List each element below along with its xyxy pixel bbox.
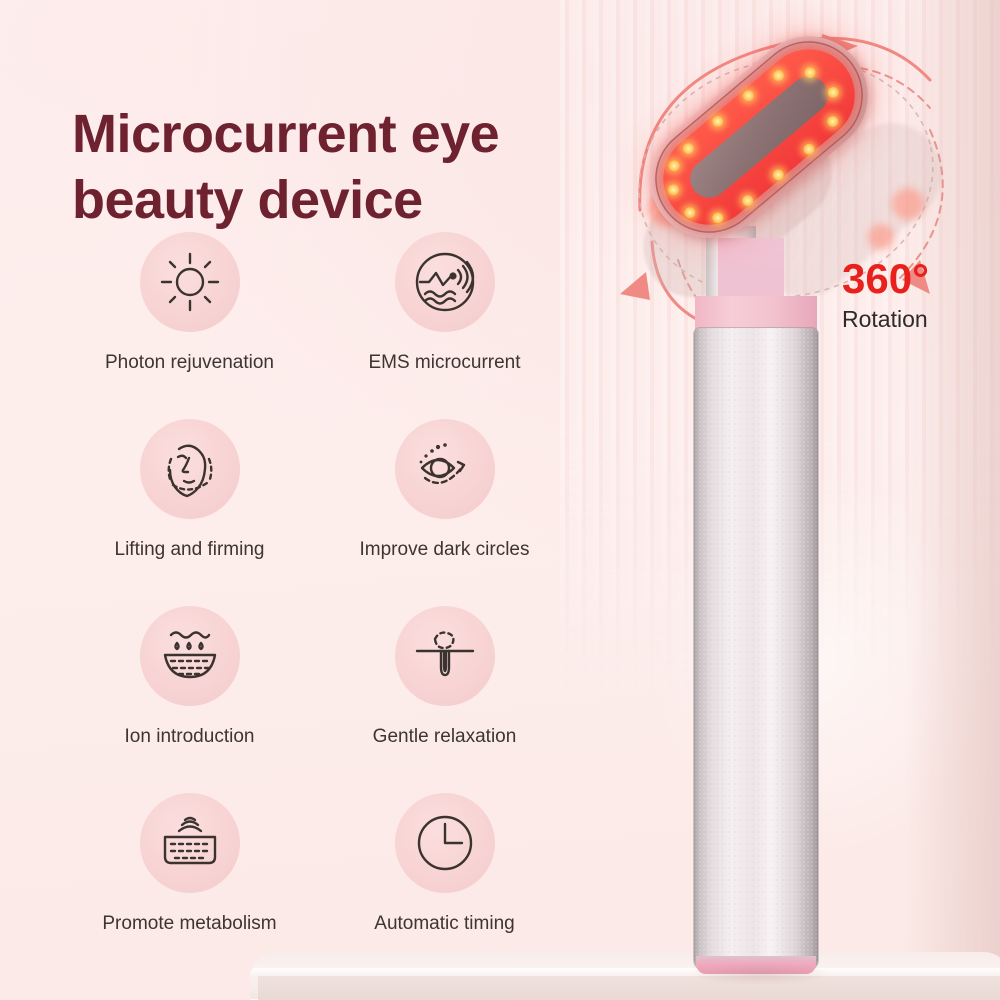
- ghost-led-glow: [892, 188, 924, 220]
- led-dot: [681, 141, 696, 156]
- feature-label: Lifting and firming: [115, 539, 265, 561]
- feature-row-2: Lifting and firming: [62, 419, 572, 606]
- feature-label: Promote metabolism: [102, 913, 276, 935]
- led-dot: [710, 114, 725, 129]
- feature-item-ems-microcurrent: EMS microcurrent: [317, 232, 572, 419]
- feature-label: Photon rejuvenation: [105, 352, 274, 374]
- led-dot: [666, 182, 681, 197]
- feature-item-photon-rejuvenation: Photon rejuvenation: [62, 232, 317, 419]
- rotation-caption: Rotation: [842, 306, 992, 333]
- led-dot: [771, 68, 786, 83]
- ems-wave-icon: [412, 249, 478, 315]
- water-droplets-icon: [157, 627, 223, 685]
- rotation-badge: 360° Rotation: [842, 258, 992, 333]
- feature-icon-disc: [395, 793, 495, 893]
- feature-row-4: Promote metabolism Automatic timing: [62, 793, 572, 980]
- feature-label: Ion introduction: [125, 726, 255, 748]
- feature-list: Photon rejuvenation EMS microcurr: [62, 232, 572, 980]
- led-dot: [666, 158, 681, 173]
- feature-item-lifting-and-firming: Lifting and firming: [62, 419, 317, 606]
- feature-item-gentle-relaxation: Gentle relaxation: [317, 606, 572, 793]
- sun-icon: [159, 251, 221, 313]
- page-title-line-2: beauty device: [72, 168, 632, 234]
- feature-item-automatic-timing: Automatic timing: [317, 793, 572, 980]
- feature-row-3: Ion introduction Gentle relaxation: [62, 606, 572, 793]
- clock-icon: [414, 812, 476, 874]
- feature-label: Automatic timing: [374, 913, 514, 935]
- feature-label: Improve dark circles: [360, 539, 530, 561]
- feature-label: Gentle relaxation: [373, 726, 517, 748]
- ghost-led-glow: [868, 224, 894, 250]
- face-profile-icon: [159, 437, 221, 501]
- led-dot: [682, 205, 697, 220]
- feature-icon-disc: [395, 232, 495, 332]
- feature-icon-disc: [395, 606, 495, 706]
- led-dot: [741, 88, 756, 103]
- device-handle: [694, 328, 818, 970]
- page-title-line-1: Microcurrent eye: [72, 104, 499, 164]
- feature-item-ion-introduction: Ion introduction: [62, 606, 317, 793]
- feature-icon-disc: [140, 419, 240, 519]
- page-title: Microcurrent eye beauty device: [72, 102, 632, 234]
- feature-item-promote-metabolism: Promote metabolism: [62, 793, 317, 980]
- product-device: 360° Rotation: [600, 10, 1000, 990]
- feature-icon-disc: [140, 232, 240, 332]
- feature-label: EMS microcurrent: [368, 352, 520, 374]
- rotation-value: 360°: [842, 258, 992, 300]
- led-dot: [825, 114, 840, 129]
- feature-item-improve-dark-circles: Improve dark circles: [317, 419, 572, 606]
- feature-icon-disc: [140, 793, 240, 893]
- feature-icon-disc: [140, 606, 240, 706]
- product-marketing-image: Microcurrent eye beauty device: [0, 0, 1000, 1000]
- feature-icon-disc: [395, 419, 495, 519]
- eye-icon: [412, 440, 478, 498]
- hair-follicle-icon: [413, 625, 477, 687]
- feature-row-1: Photon rejuvenation EMS microcurr: [62, 232, 572, 419]
- skin-layers-icon: [157, 813, 223, 873]
- device-drop-shadow: [660, 962, 860, 988]
- handle-texture: [694, 328, 818, 970]
